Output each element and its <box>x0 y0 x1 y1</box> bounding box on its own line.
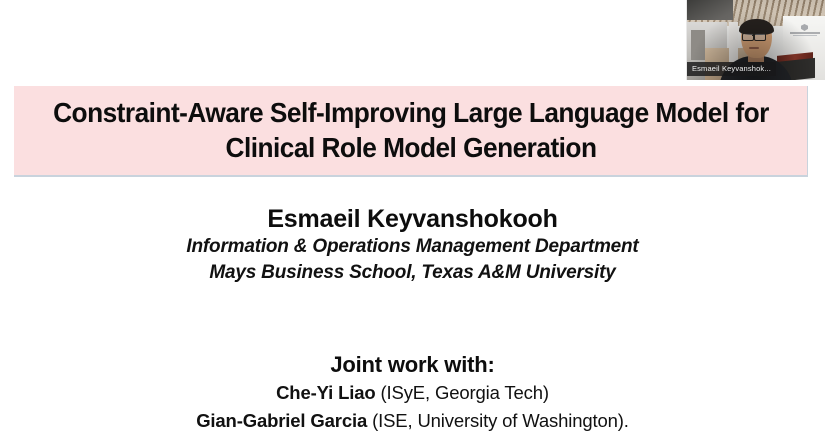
title-line-1: Constraint-Aware Self-Improving Large La… <box>53 97 769 128</box>
collaborator-line: Gian-Gabriel Garcia (ISE, University of … <box>0 409 825 434</box>
slide-title-banner: Constraint-Aware Self-Improving Large La… <box>14 86 808 177</box>
collaborator-name: Gian-Gabriel Garcia <box>196 410 367 431</box>
collaborator-line: Che-Yi Liao (ISyE, Georgia Tech) <box>0 381 825 406</box>
collaborator-affiliation: (ISyE, Georgia Tech) <box>376 382 549 403</box>
title-line-2: Clinical Role Model Generation <box>225 132 596 163</box>
author-block: Esmaeil Keyvanshokooh Information & Oper… <box>0 205 825 285</box>
joint-work-heading: Joint work with: <box>0 352 825 378</box>
page-title: Constraint-Aware Self-Improving Large La… <box>38 96 783 164</box>
video-participant-tile[interactable]: Esmaeil Keyvanshok... <box>686 0 825 80</box>
collaborator-name: Che-Yi Liao <box>276 382 375 403</box>
author-affiliation-line-1: Information & Operations Management Depa… <box>0 235 825 259</box>
collaborator-affiliation: (ISE, University of Washington). <box>367 410 629 431</box>
participant-name-label: Esmaeil Keyvanshok... <box>687 62 776 76</box>
joint-work-block: Joint work with: Che-Yi Liao (ISyE, Geor… <box>0 352 825 434</box>
author-name: Esmaeil Keyvanshokooh <box>0 205 825 233</box>
author-affiliation-line-2: Mays Business School, Texas A&M Universi… <box>0 261 825 285</box>
